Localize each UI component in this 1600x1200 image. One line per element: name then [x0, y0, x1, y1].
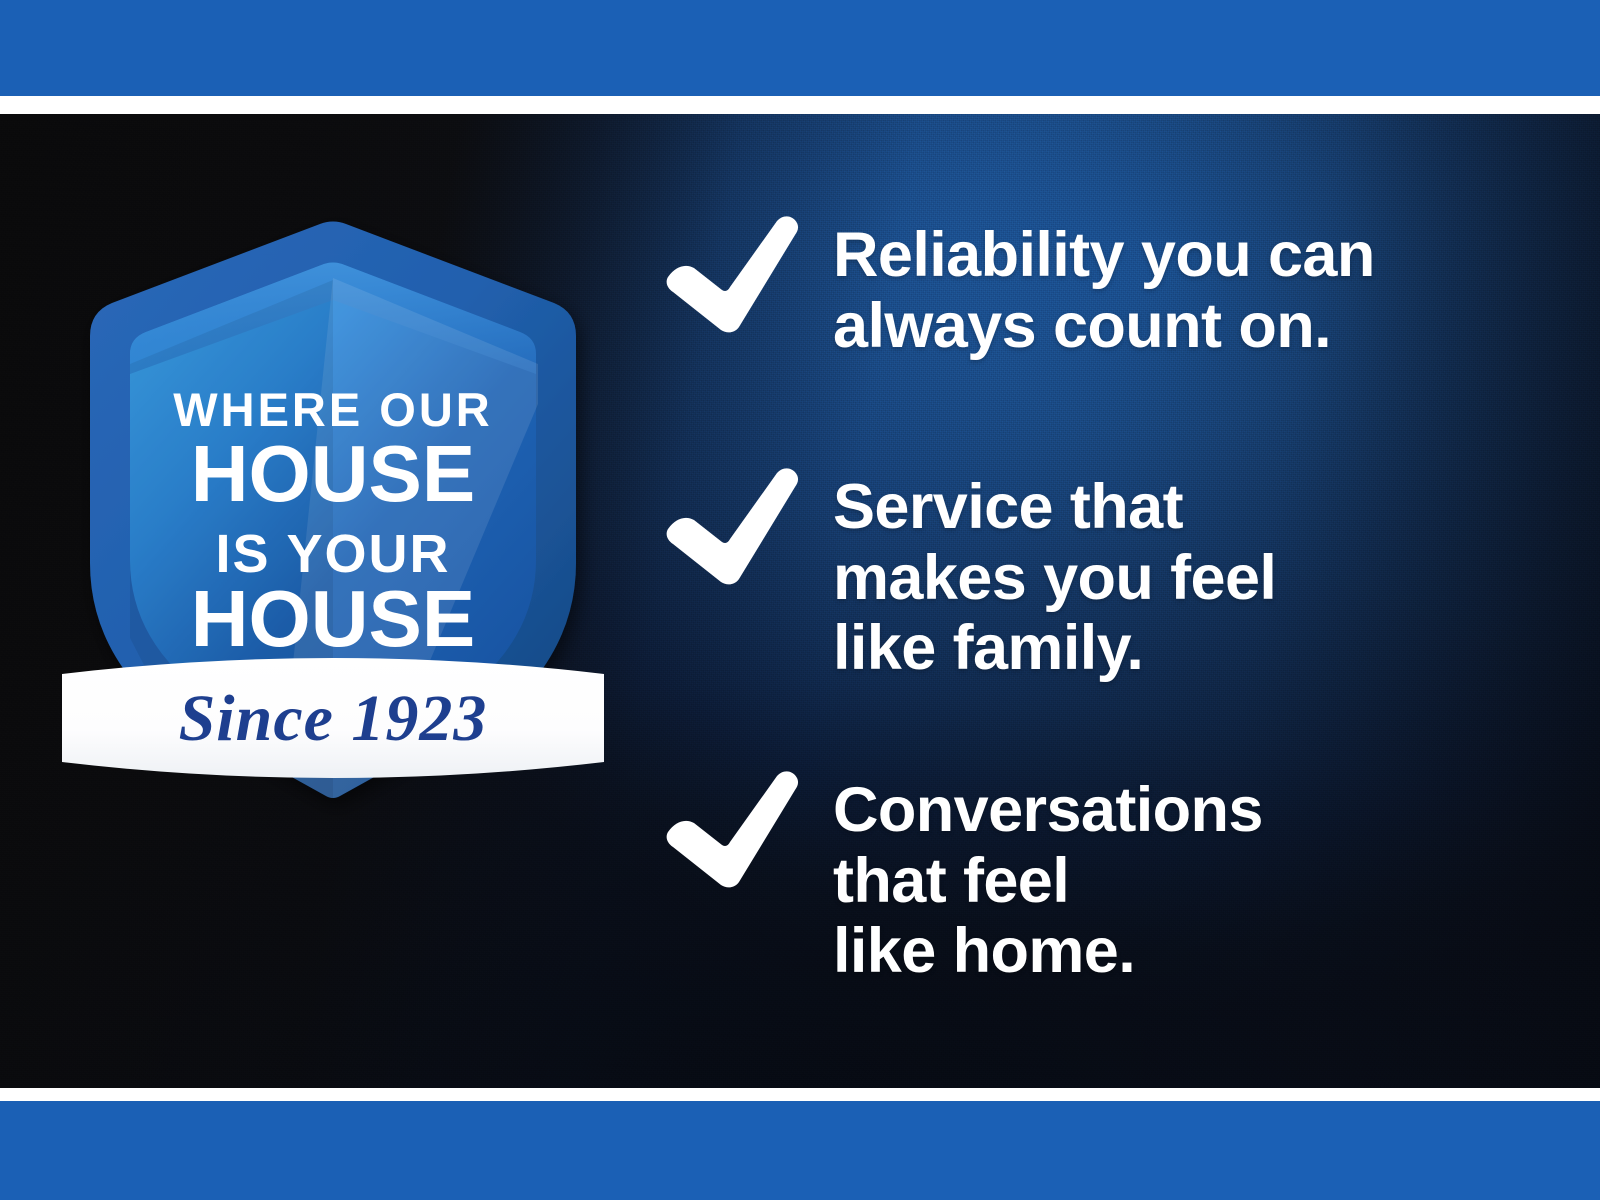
benefit-item: Reliability you can always count on. [665, 214, 1375, 361]
checkmark-icon [665, 214, 801, 334]
bottom-brand-bar [0, 1101, 1600, 1200]
promotional-graphic: WHERE OUR HOUSE IS YOUR HOUSE Since 1923… [0, 0, 1600, 1200]
benefit-text: Service that makes you feel like family. [833, 466, 1276, 684]
badge-ribbon-text: Since 1923 [179, 682, 488, 755]
checkmark-icon [665, 466, 801, 586]
benefit-item: Conversations that feel like home. [665, 769, 1263, 987]
badge-line-house-1: HOUSE [191, 429, 476, 518]
top-brand-bar [0, 0, 1600, 96]
benefit-text: Conversations that feel like home. [833, 769, 1263, 987]
benefit-item: Service that makes you feel like family. [665, 466, 1276, 684]
checkmark-icon [665, 769, 801, 889]
badge-line-house-2: HOUSE [191, 574, 476, 663]
benefit-text: Reliability you can always count on. [833, 214, 1375, 361]
benefits-list: Reliability you can always count on. Ser… [665, 114, 1565, 1088]
shield-badge: WHERE OUR HOUSE IS YOUR HOUSE Since 1923 [68, 168, 598, 808]
badge-ribbon: Since 1923 [62, 658, 604, 778]
